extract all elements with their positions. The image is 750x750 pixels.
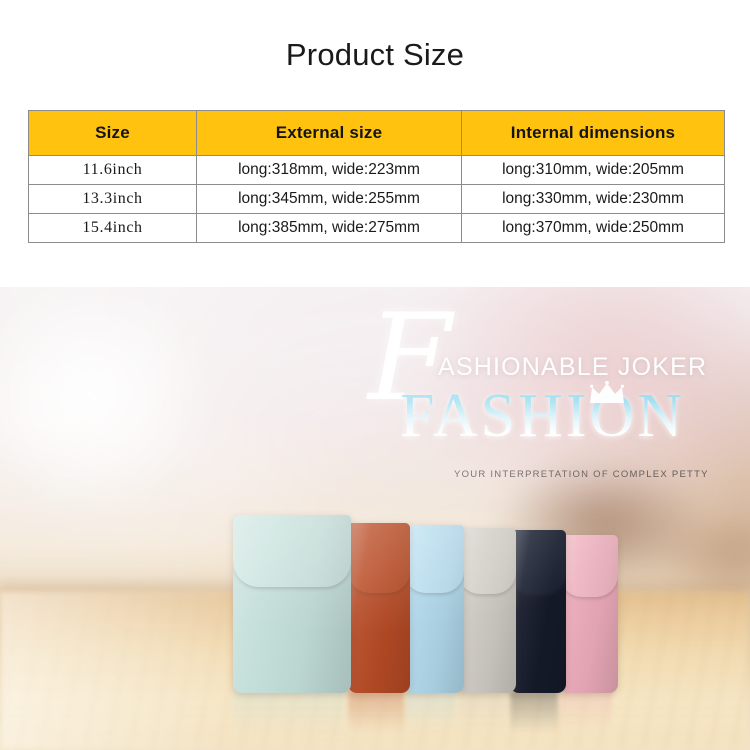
brand-wordmark: FASHION (400, 385, 685, 447)
cell-size: 15.4inch (29, 214, 197, 243)
reflection-mint (233, 691, 345, 737)
sleeve-shading (233, 515, 351, 693)
brand-name-line: ASHIONABLE JOKER (438, 353, 707, 382)
reflection-gray (458, 691, 508, 733)
sleeve-shading (560, 535, 618, 693)
table-row: 13.3inch long:345mm, wide:255mm long:330… (29, 185, 725, 214)
brand-logo-block: F ASHIONABLE JOKER FASHION YOUR INTERPRE… (360, 305, 705, 495)
product-size-table: Size External size Internal dimensions 1… (28, 110, 725, 243)
product-detail-page: Product Size Size External size Internal… (0, 0, 750, 750)
cell-external: long:385mm, wide:275mm (197, 214, 462, 243)
cell-external: long:345mm, wide:255mm (197, 185, 462, 214)
cell-internal: long:330mm, wide:230mm (462, 185, 725, 214)
reflection-blue (406, 691, 456, 733)
sleeve-shading (458, 528, 516, 693)
sleeve-shading (348, 523, 410, 693)
brand-tagline: YOUR INTERPRETATION OF COMPLEX PETTY (454, 469, 709, 480)
reflection-rust (348, 691, 404, 733)
pink-sleeve (560, 535, 618, 693)
mint-green-sleeve (233, 515, 351, 693)
column-header-internal: Internal dimensions (462, 111, 725, 156)
navy-black-sleeve (510, 530, 566, 693)
light-blue-sleeve (404, 525, 464, 693)
page-title: Product Size (0, 36, 750, 74)
sleeve-shading (510, 530, 566, 693)
light-gray-sleeve (458, 528, 516, 693)
cell-internal: long:310mm, wide:205mm (462, 156, 725, 185)
size-table-container: Size External size Internal dimensions 1… (28, 110, 724, 243)
cell-size: 13.3inch (29, 185, 197, 214)
cell-size: 11.6inch (29, 156, 197, 185)
product-lifestyle-photo: F ASHIONABLE JOKER FASHION YOUR INTERPRE… (0, 287, 750, 750)
cell-external: long:318mm, wide:223mm (197, 156, 462, 185)
cell-internal: long:370mm, wide:250mm (462, 214, 725, 243)
table-header-row: Size External size Internal dimensions (29, 111, 725, 156)
table-row: 11.6inch long:318mm, wide:223mm long:310… (29, 156, 725, 185)
table-row: 15.4inch long:385mm, wide:275mm long:370… (29, 214, 725, 243)
column-header-size: Size (29, 111, 197, 156)
column-header-external: External size (197, 111, 462, 156)
rust-orange-sleeve (348, 523, 410, 693)
product-size-section: Product Size Size External size Internal… (0, 0, 750, 287)
reflection-navy (510, 691, 558, 733)
crown-icon (588, 381, 626, 405)
sleeve-shading (404, 525, 464, 693)
reflection-pink (560, 689, 612, 731)
